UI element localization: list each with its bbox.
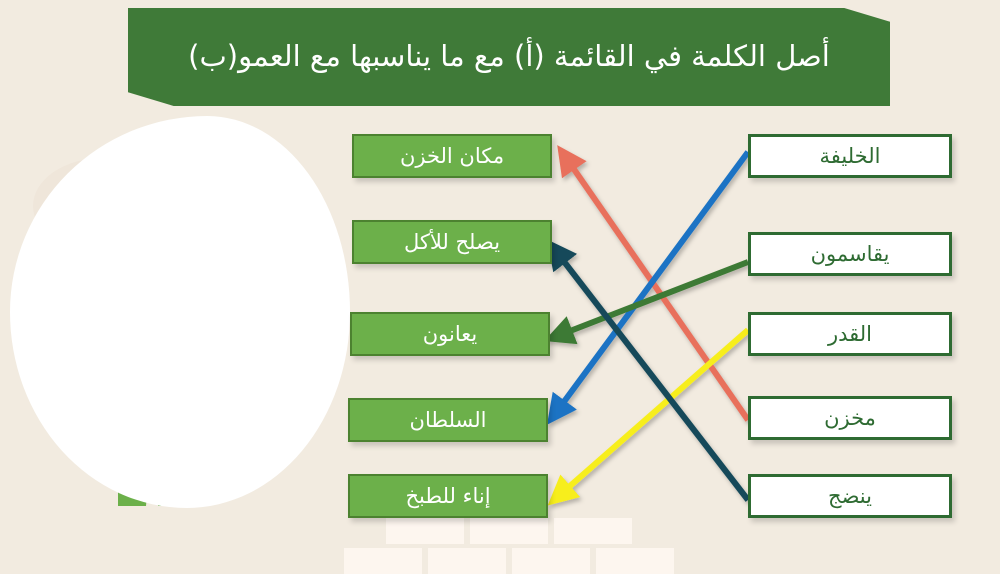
column-b-item-2[interactable]: يقاسمون	[748, 232, 952, 276]
brick-texture-4	[344, 548, 422, 574]
column-b-item-5-label: ينضج	[828, 484, 872, 508]
brick-texture-2	[470, 518, 548, 544]
column-a-item-3-label: يعانون	[423, 322, 478, 346]
column-a-item-5[interactable]: إناء للطبخ	[348, 474, 548, 518]
brick-texture-3	[554, 518, 632, 544]
column-b-item-1[interactable]: الخليفة	[748, 134, 952, 178]
column-b-item-3[interactable]: القدر	[748, 312, 952, 356]
column-a-item-1-label: مكان الخزن	[400, 144, 504, 168]
slide-canvas: أصل الكلمة في القائمة (أ) مع ما يناسبها …	[0, 0, 1000, 562]
page-title: أصل الكلمة في القائمة (أ) مع ما يناسبها …	[162, 38, 856, 76]
brick-texture-1	[386, 518, 464, 544]
column-a-item-2[interactable]: يصلح للأكل	[352, 220, 552, 264]
column-b-item-2-label: يقاسمون	[811, 242, 890, 266]
column-a-item-5-label: إناء للطبخ	[405, 484, 490, 508]
brick-texture-7	[596, 548, 674, 574]
column-a-item-3[interactable]: يعانون	[350, 312, 550, 356]
column-a-item-1[interactable]: مكان الخزن	[352, 134, 552, 178]
woman-illustration	[0, 108, 372, 538]
arrow-khalifa-to-sultan	[552, 152, 748, 418]
brick-texture-6	[512, 548, 590, 574]
column-a-item-4[interactable]: السلطان	[348, 398, 548, 442]
column-b-item-1-label: الخليفة	[820, 144, 881, 168]
arrow-makhzan-to-makan-alkhazn	[562, 152, 748, 420]
column-b-item-4[interactable]: مخزن	[748, 396, 952, 440]
column-b-item-3-label: القدر	[828, 322, 872, 346]
column-a-item-4-label: السلطان	[410, 408, 487, 432]
column-a-item-2-label: يصلح للأكل	[404, 230, 500, 254]
arrow-yandaj-to-yasluh	[552, 246, 748, 500]
column-b-item-4-label: مخزن	[824, 406, 876, 430]
brick-texture-5	[428, 548, 506, 574]
title-banner: أصل الكلمة في القائمة (أ) مع ما يناسبها …	[128, 8, 890, 106]
arrow-qidr-to-inaa	[554, 330, 748, 500]
arrow-yuqasimun-to-yuanun	[552, 262, 748, 338]
column-b-item-5[interactable]: ينضج	[748, 474, 952, 518]
